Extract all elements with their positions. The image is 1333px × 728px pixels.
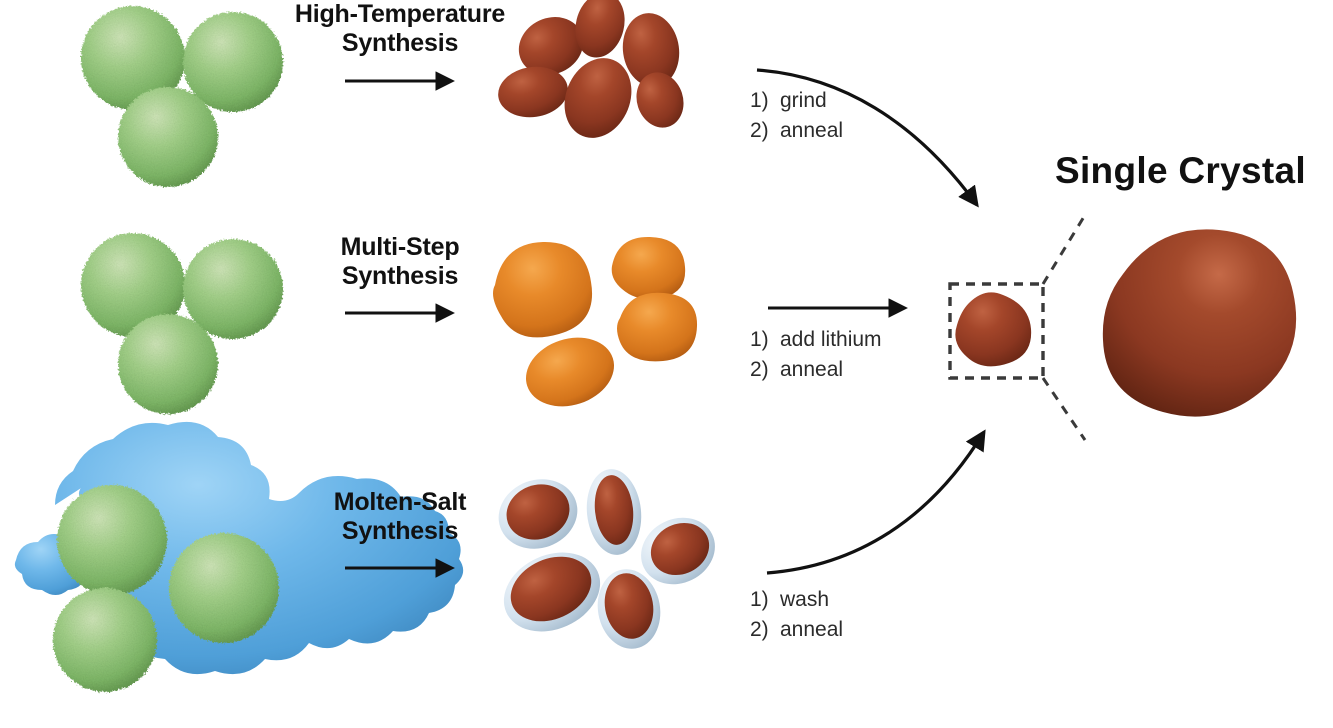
step-item: 1) add lithium <box>750 325 882 355</box>
step-text: anneal <box>780 116 843 146</box>
step-number: 2) <box>750 355 780 385</box>
step-number: 1) <box>750 86 780 116</box>
step-item: 1) wash <box>750 585 843 615</box>
step-item: 2) anneal <box>750 116 843 146</box>
single-crystal-large <box>1103 229 1296 416</box>
magnifier-leader-bottom <box>1043 378 1085 440</box>
product-red-crystal-cluster <box>495 0 691 148</box>
step-text: grind <box>780 86 843 116</box>
magnifier-leader-top <box>1043 215 1085 284</box>
magnifier-dashed-box <box>950 284 1043 378</box>
artwork-layer <box>0 0 1333 728</box>
step-number: 1) <box>750 585 780 615</box>
step-item: 1) grind <box>750 86 843 116</box>
precursor-green-spheres-in-molten-salt <box>15 422 463 692</box>
precursor-green-spheres-row1 <box>81 6 283 187</box>
single-crystal-small <box>955 292 1031 366</box>
steps-high-temperature: 1) grind 2) anneal <box>750 86 843 147</box>
step-item: 2) anneal <box>750 355 882 385</box>
route-label-molten-salt: Molten-Salt Synthesis <box>280 488 520 546</box>
single-crystal-title: Single Crystal <box>1055 150 1306 192</box>
step-number: 2) <box>750 615 780 645</box>
step-item: 2) anneal <box>750 615 843 645</box>
product-orange-particles <box>493 237 697 417</box>
route-label-multi-step: Multi-Step Synthesis <box>280 233 520 291</box>
arrows-layer <box>0 0 1333 728</box>
step-text: anneal <box>780 355 882 385</box>
step-text: add lithium <box>780 325 882 355</box>
product-salt-coated-red-crystals <box>489 466 726 653</box>
diagram-canvas: High-Temperature Synthesis Multi-Step Sy… <box>0 0 1333 728</box>
step-number: 2) <box>750 116 780 146</box>
precursor-green-spheres-row2 <box>81 233 283 414</box>
step-text: anneal <box>780 615 843 645</box>
steps-multi-step: 1) add lithium 2) anneal <box>750 325 882 386</box>
arrow-wash-anneal <box>767 432 984 573</box>
steps-molten-salt: 1) wash 2) anneal <box>750 585 843 646</box>
step-text: wash <box>780 585 843 615</box>
route-label-high-temperature: High-Temperature Synthesis <box>280 0 520 58</box>
step-number: 1) <box>750 325 780 355</box>
